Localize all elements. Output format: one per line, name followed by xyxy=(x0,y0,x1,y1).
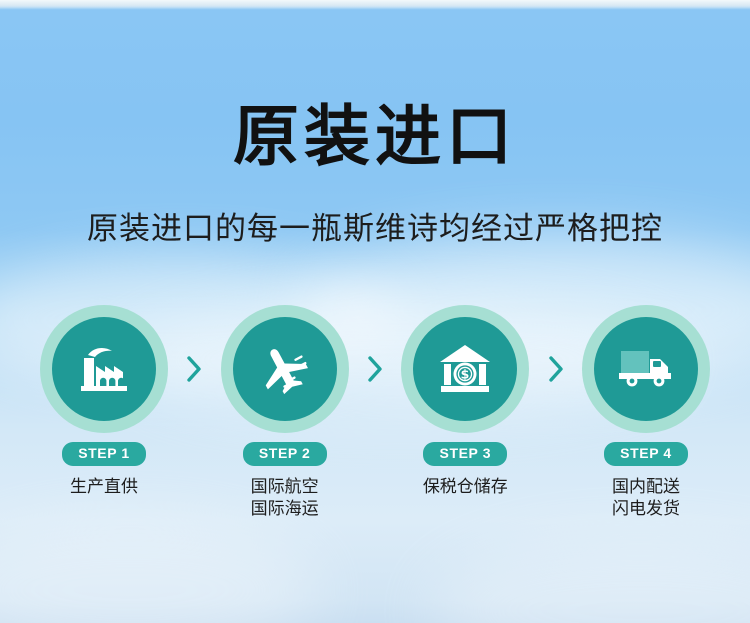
page-subtitle: 原装进口的每一瓶斯维诗均经过严格把控 xyxy=(0,214,750,245)
step-2[interactable]: STEP 2 国际航空 国际海运 xyxy=(221,305,349,521)
step-4-disc xyxy=(582,305,710,433)
step-3-caption: 保税仓储存 xyxy=(423,476,508,498)
step-3-disc: $ xyxy=(401,305,529,433)
step-1[interactable]: STEP 1 生产直供 xyxy=(40,305,168,498)
step-2-caption: 国际航空 国际海运 xyxy=(251,476,319,521)
cloud-bottom-left xyxy=(0,520,320,623)
page-title: 原装进口 xyxy=(0,104,750,170)
step-3-disc-inner: $ xyxy=(413,317,517,421)
airplane-icon xyxy=(257,343,313,395)
chevron-right-icon-3 xyxy=(543,305,569,433)
step-4[interactable]: STEP 4 国内配送 闪电发货 xyxy=(582,305,710,521)
step-4-badge: STEP 4 xyxy=(604,442,688,466)
process-steps: STEP 1 生产直供 xyxy=(40,305,710,521)
step-3[interactable]: $ STEP 3 保税仓储存 xyxy=(401,305,529,498)
step-1-disc-inner xyxy=(52,317,156,421)
step-3-badge: STEP 3 xyxy=(423,442,507,466)
headline-block: 原装进口 原装进口的每一瓶斯维诗均经过严格把控 xyxy=(0,0,750,245)
step-2-badge: STEP 2 xyxy=(243,442,327,466)
step-1-disc xyxy=(40,305,168,433)
step-4-caption: 国内配送 闪电发货 xyxy=(612,476,680,521)
step-1-caption: 生产直供 xyxy=(70,476,138,498)
delivery-truck-icon xyxy=(617,347,675,391)
chevron-right-icon-2 xyxy=(362,305,388,433)
svg-text:$: $ xyxy=(461,367,470,382)
bank-vault-icon: $ xyxy=(438,343,492,395)
step-2-disc xyxy=(221,305,349,433)
step-4-disc-inner xyxy=(594,317,698,421)
step-1-badge: STEP 1 xyxy=(62,442,146,466)
cloud-bottom-right xyxy=(430,540,750,623)
import-process-banner: 原装进口 原装进口的每一瓶斯维诗均经过严格把控 xyxy=(0,0,750,623)
chevron-right-icon-1 xyxy=(181,305,207,433)
factory-icon xyxy=(75,344,133,394)
step-2-disc-inner xyxy=(233,317,337,421)
